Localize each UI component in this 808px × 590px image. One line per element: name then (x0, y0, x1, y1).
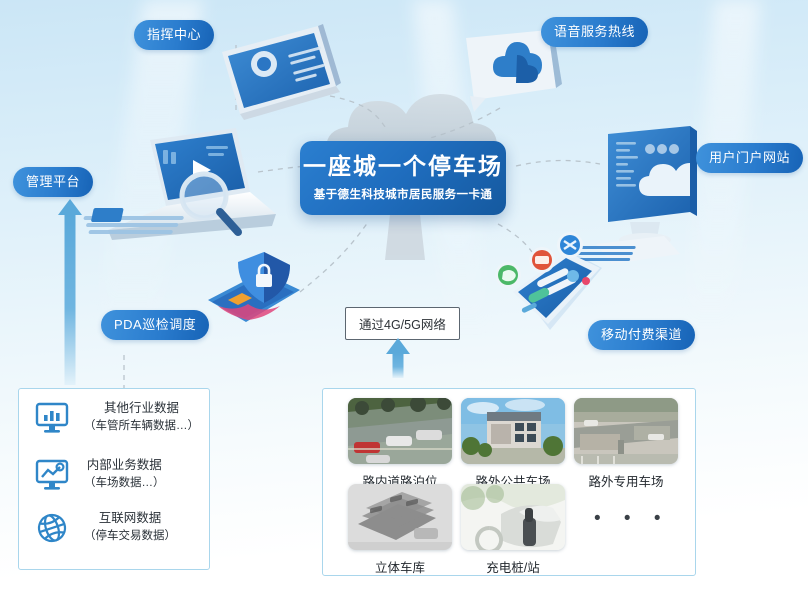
app-badge-bank-icon (557, 232, 583, 258)
data-source-item[interactable]: 其他行业数据 （车管所车辆数据…） (30, 398, 200, 438)
globe-icon (30, 508, 74, 548)
scenario-caption: 充电桩/站 (461, 557, 565, 576)
label-voice-hotline[interactable]: 语音服务热线 (541, 17, 648, 47)
photo-on-street-parking (348, 398, 452, 464)
network-up-arrow-icon (386, 338, 410, 378)
data-source-item[interactable]: 内部业务数据 （车场数据…） (30, 455, 200, 495)
label-mobile-payment[interactable]: 移动付费渠道 (588, 320, 695, 350)
scenario-caption: 路外专用车场 (574, 471, 678, 490)
data-source-title: 其他行业数据 (84, 401, 199, 417)
app-badge-alipay-icon (529, 247, 555, 273)
scenario-card[interactable]: 路外专用车场 (574, 398, 678, 490)
management-platform-device-icon (83, 128, 276, 240)
data-source-item[interactable]: 互联网数据 （停车交易数据） (30, 508, 200, 548)
network-box: 通过4G/5G网络 (345, 307, 460, 340)
scenario-card[interactable]: 路内道路泊位 (348, 398, 452, 490)
app-badge-wechat-icon (495, 262, 521, 288)
scenario-card[interactable]: 立体车库 (348, 484, 452, 576)
pda-inspection-device-icon (208, 252, 300, 322)
data-source-detail: （车场数据…） (84, 476, 165, 492)
data-source-detail: （车管所车辆数据…） (84, 419, 199, 435)
center-banner: 一座城一个停车场 基于德生科技城市居民服务一卡通 (300, 141, 506, 215)
label-command-center[interactable]: 指挥中心 (134, 20, 214, 50)
data-source-up-arrow-icon (58, 199, 82, 385)
data-source-title: 互联网数据 (84, 511, 176, 527)
label-pda-inspection[interactable]: PDA巡检调度 (101, 310, 209, 340)
data-source-title: 内部业务数据 (84, 458, 165, 474)
label-user-portal[interactable]: 用户门户网站 (696, 143, 803, 173)
scenarios-more-ellipsis: • • • (594, 508, 670, 530)
command-center-device-icon (222, 24, 341, 120)
scenario-card[interactable]: 充电桩/站 (461, 484, 565, 576)
user-portal-device-icon (573, 126, 697, 264)
photo-public-offstreet-lot (461, 398, 565, 464)
scenario-caption: 立体车库 (348, 557, 452, 576)
label-management-platform[interactable]: 管理平台 (13, 167, 93, 197)
scenario-card[interactable]: 路外公共车场 (461, 398, 565, 490)
photo-multi-level-garage (348, 484, 452, 550)
photo-ev-charging-station (461, 484, 565, 550)
data-source-detail: （停车交易数据） (84, 529, 176, 545)
bar-chart-monitor-icon (30, 398, 74, 438)
photo-dedicated-offstreet-lot (574, 398, 678, 464)
banner-subtitle: 基于德生科技城市居民服务一卡通 (314, 186, 493, 202)
banner-title: 一座城一个停车场 (303, 154, 503, 179)
diagram-canvas: 一座城一个停车场 基于德生科技城市居民服务一卡通 指挥中心 语音服务热线 管理平… (0, 0, 808, 590)
line-chart-monitor-icon (30, 455, 74, 495)
